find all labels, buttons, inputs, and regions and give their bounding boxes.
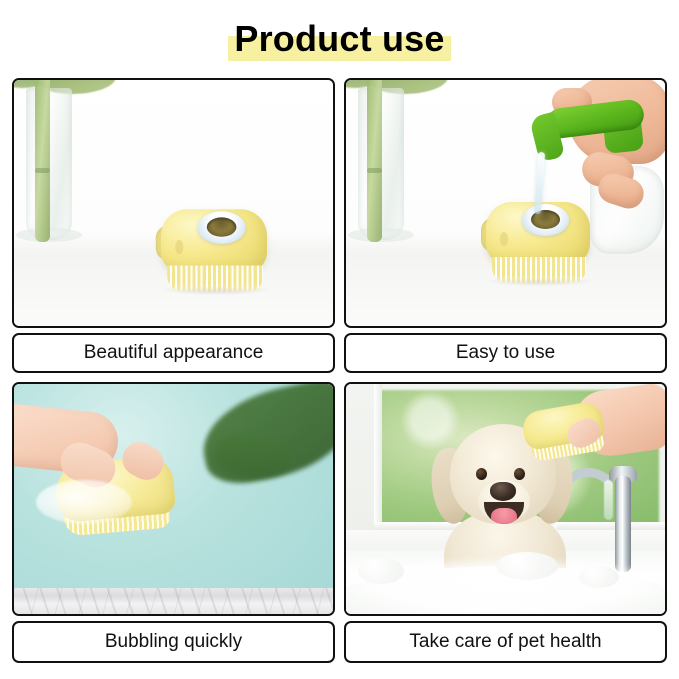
puppy-eye <box>476 468 487 480</box>
page-title: Product use <box>228 18 450 60</box>
caption-box: Easy to use <box>344 333 667 373</box>
plant-stem-node <box>367 168 382 173</box>
window-sash-vertical <box>374 384 382 534</box>
caption-box: Take care of pet health <box>344 621 667 663</box>
caption-text: Beautiful appearance <box>84 342 264 364</box>
foam-bubble <box>358 558 404 584</box>
caption-text: Easy to use <box>456 342 555 364</box>
product-use-grid: Beautiful appearance <box>12 78 667 677</box>
panel-take-care-of-pet-health: Take care of pet health <box>344 382 667 677</box>
page-header: Product use <box>0 0 679 78</box>
foam <box>36 480 132 524</box>
product-photo-bubbling-quickly <box>12 382 335 616</box>
plant-stem <box>35 78 50 242</box>
running-water <box>604 480 613 520</box>
caption-text: Take care of pet health <box>409 631 601 653</box>
brush-notch <box>500 232 508 246</box>
product-photo-take-care-of-pet-health <box>344 382 667 616</box>
product-photo-beautiful-appearance <box>12 78 335 328</box>
caption-text: Bubbling quickly <box>105 631 242 653</box>
plant-stem <box>367 78 382 242</box>
silicone-brush <box>486 202 594 278</box>
product-photo-easy-to-use <box>344 78 667 328</box>
faucet-body <box>615 476 631 572</box>
panel-bubbling-quickly: Bubbling quickly <box>12 382 335 677</box>
plant-stem-node <box>35 168 50 173</box>
caption-box: Beautiful appearance <box>12 333 335 373</box>
foam-bubble <box>496 552 558 580</box>
foam-bubble <box>579 566 619 588</box>
dispenser-cap-opening <box>207 217 237 236</box>
page-title-text: Product use <box>234 18 444 59</box>
panel-easy-to-use: Easy to use <box>344 78 667 373</box>
puppy-nose <box>490 482 516 501</box>
marble-counter <box>14 588 333 614</box>
brush-bristles <box>167 265 263 292</box>
puppy-eye <box>514 468 525 480</box>
brush-notch <box>175 240 183 254</box>
puppy-tongue <box>491 508 517 524</box>
brush-bristles <box>492 257 586 283</box>
caption-box: Bubbling quickly <box>12 621 335 663</box>
panel-beautiful-appearance: Beautiful appearance <box>12 78 335 373</box>
silicone-brush <box>161 209 271 287</box>
